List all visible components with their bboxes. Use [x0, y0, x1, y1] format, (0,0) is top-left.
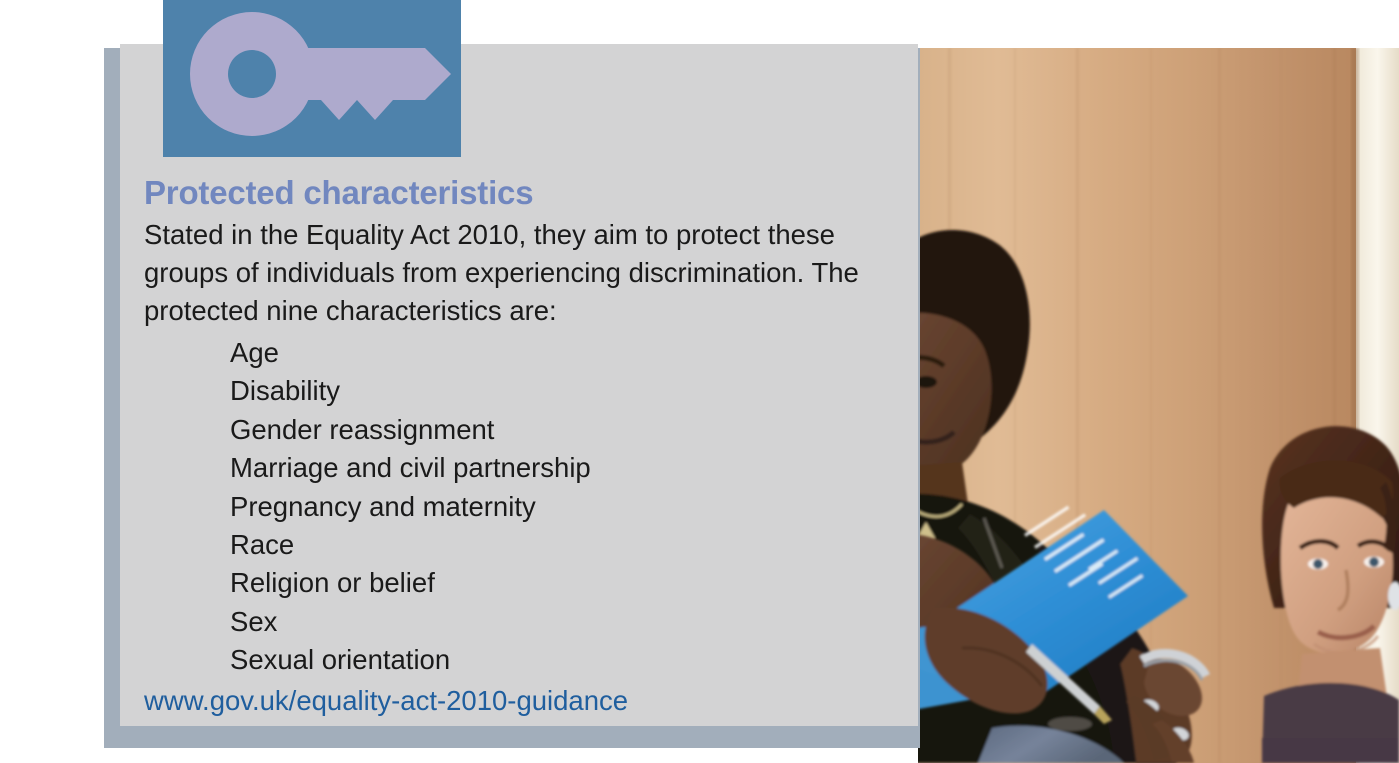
list-item: Marriage and civil partnership	[230, 449, 924, 487]
photo-artwork	[918, 48, 1399, 763]
key-icon-artwork	[163, 0, 461, 157]
list-item: Disability	[230, 372, 924, 410]
list-item: Religion or belief	[230, 564, 924, 602]
guidance-link[interactable]: www.gov.uk/equality-act-2010-guidance	[144, 682, 924, 720]
list-item: Race	[230, 526, 924, 564]
protected-characteristics-list: Age Disability Gender reassignment Marri…	[144, 334, 924, 680]
page-title: Protected characteristics	[144, 172, 924, 214]
list-item: Age	[230, 334, 924, 372]
slide-text-content: Protected characteristics Stated in the …	[144, 172, 924, 720]
key-bow-hole	[228, 50, 276, 98]
list-item: Sexual orientation	[230, 641, 924, 679]
list-item: Gender reassignment	[230, 411, 924, 449]
key-icon	[163, 0, 461, 157]
two-women-in-corridor-photo	[918, 48, 1399, 763]
list-item: Pregnancy and maternity	[230, 488, 924, 526]
intro-paragraph: Stated in the Equality Act 2010, they ai…	[144, 216, 904, 330]
list-item: Sex	[230, 603, 924, 641]
